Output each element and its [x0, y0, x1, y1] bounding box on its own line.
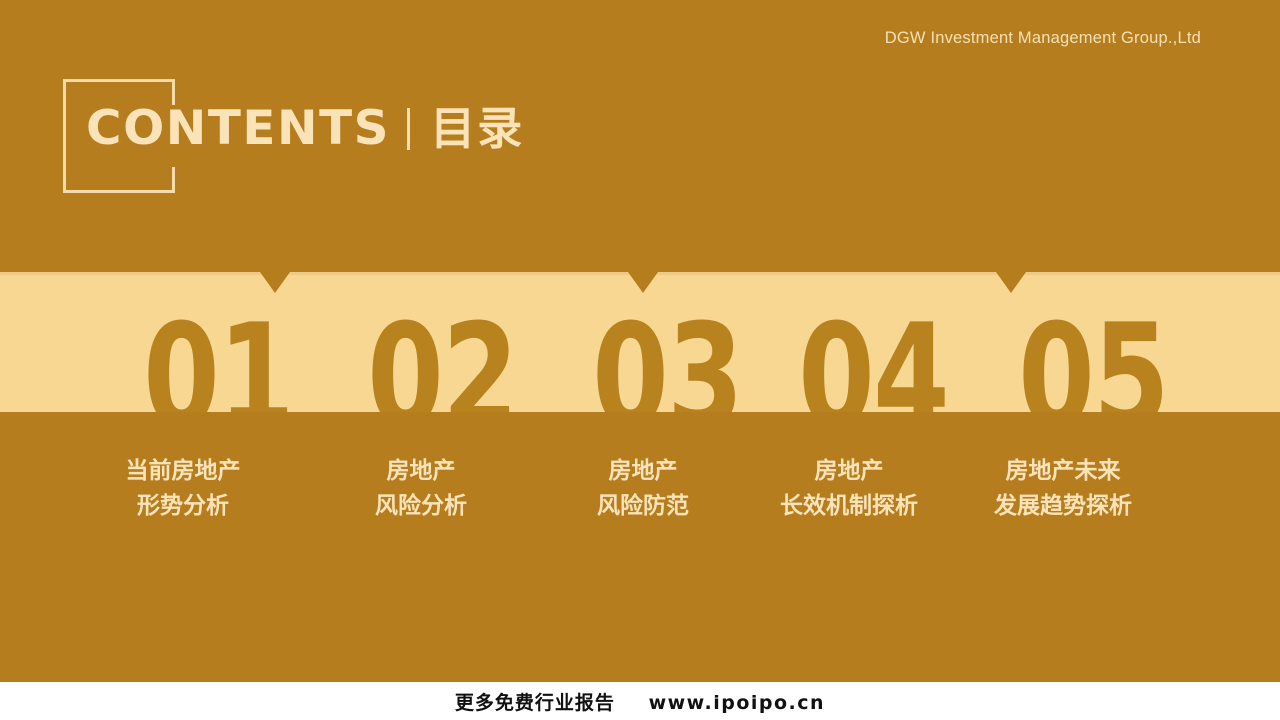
page-title-english: CONTENTS [86, 105, 390, 152]
footer-content: 更多免费行业报告 www.ipoipo.cn [0, 688, 1280, 715]
numeral-band: 0102030405 [0, 272, 1280, 412]
chevron-down-icon [260, 272, 290, 293]
section-number: 02 [367, 306, 517, 412]
company-name: DGW Investment Management Group.,Ltd [885, 29, 1201, 48]
section-caption-line2: 发展趋势探析 [863, 489, 1263, 524]
page-title-chinese: 目录 [430, 106, 524, 151]
chevron-down-icon [996, 272, 1026, 293]
section-number: 04 [798, 306, 948, 412]
footer-url[interactable]: www.ipoipo.cn [649, 692, 826, 714]
section-caption-line1: 房地产未来 [863, 454, 1263, 489]
slide-canvas: DGW Investment Management Group.,Ltd CON… [0, 0, 1280, 720]
section-number: 05 [1018, 306, 1168, 412]
page-title: CONTENTS 目录 [86, 105, 524, 152]
slide-background: DGW Investment Management Group.,Ltd CON… [0, 0, 1280, 682]
numeral-list: 0102030405 [0, 272, 1280, 412]
section-caption[interactable]: 房地产未来发展趋势探析 [863, 454, 1263, 524]
section-number: 03 [592, 306, 742, 412]
chevron-down-icon [628, 272, 658, 293]
section-number: 01 [143, 306, 293, 412]
footer-label: 更多免费行业报告 [455, 692, 615, 714]
title-separator-icon [407, 108, 410, 150]
footer-bar: 更多免费行业报告 www.ipoipo.cn [0, 682, 1280, 720]
